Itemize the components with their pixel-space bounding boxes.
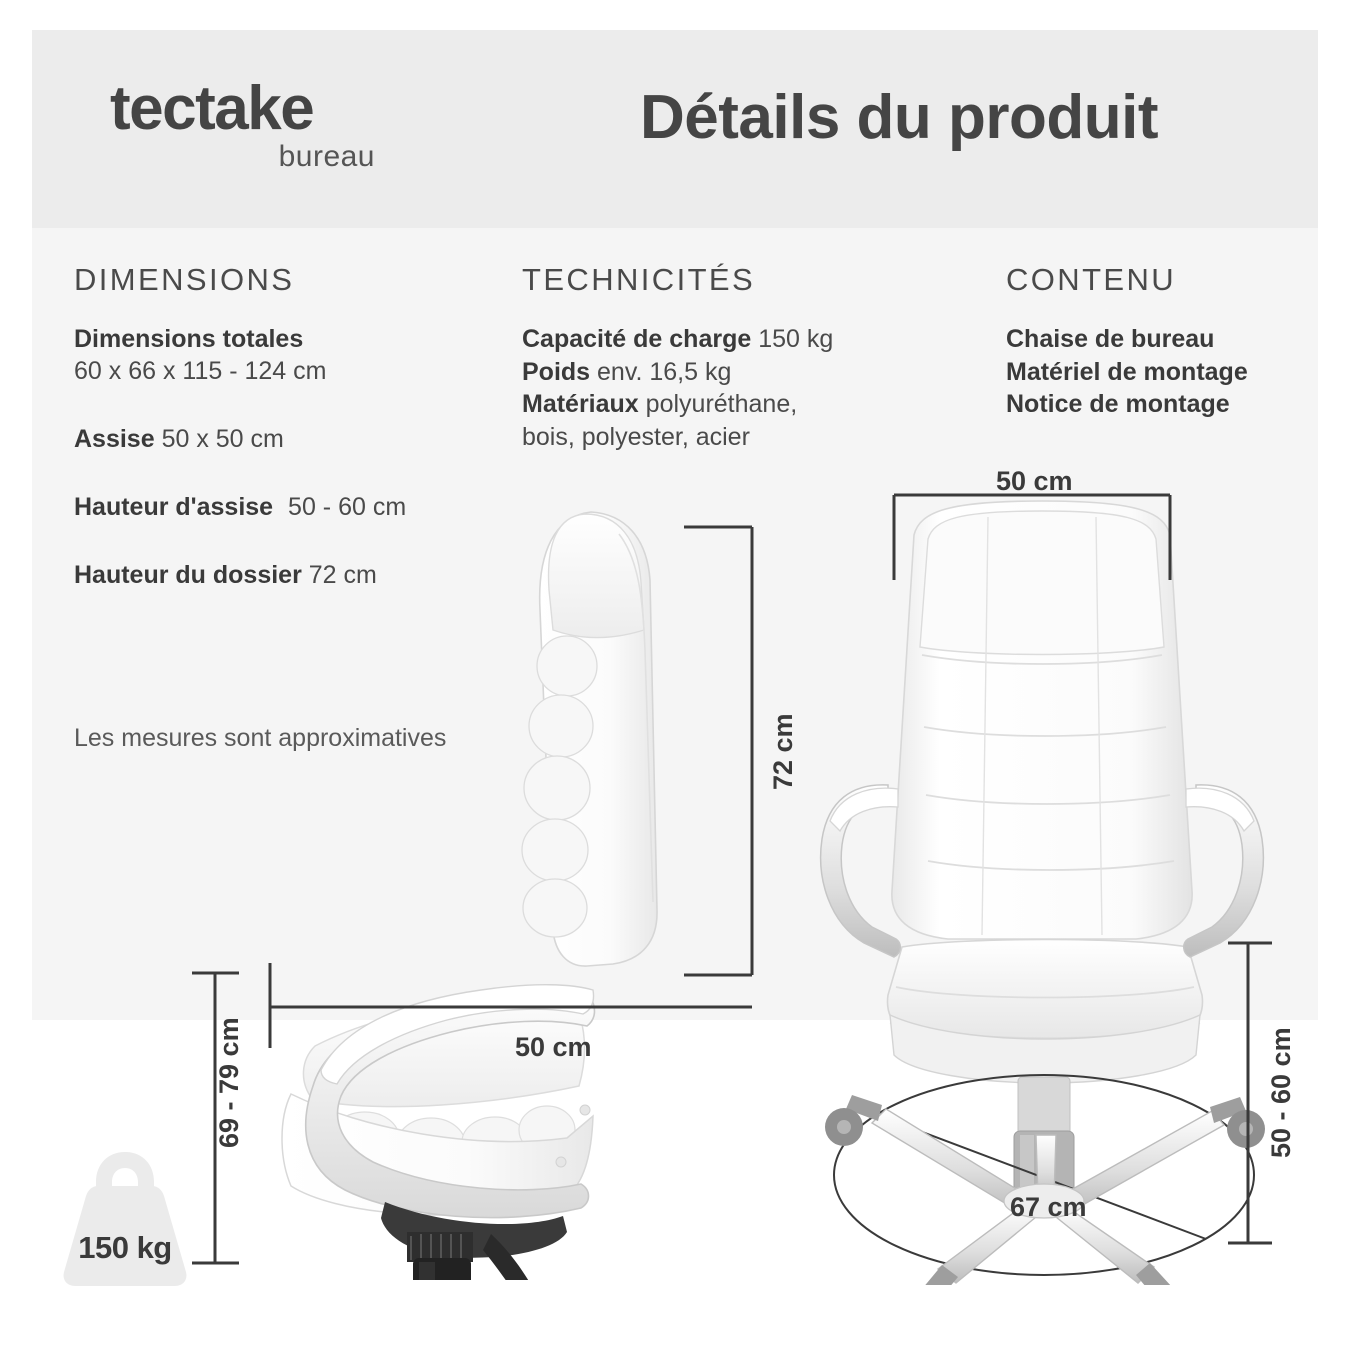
weight-value: 150 kg <box>40 1230 210 1266</box>
weight-capacity-badge: 150 kg <box>40 1140 210 1290</box>
dim-label-total-height: 69 - 79 cm <box>214 1017 245 1148</box>
dim-label-base-diameter: 67 cm <box>1010 1192 1087 1223</box>
dim-label-backrest-height: 72 cm <box>768 713 799 790</box>
dim-label-front-width: 50 cm <box>996 466 1073 497</box>
dim-label-seat-depth: 50 cm <box>515 1032 592 1063</box>
weight-icon <box>40 1140 210 1290</box>
dim-label-seat-height: 50 - 60 cm <box>1266 1027 1297 1158</box>
